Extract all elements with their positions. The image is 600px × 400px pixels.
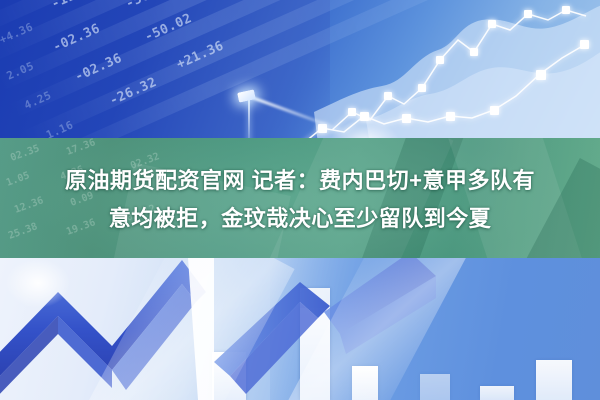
ticker-number: 4.25 (22, 89, 53, 112)
bar-chart-column (480, 386, 514, 400)
ticker-number: -50.02 (123, 0, 175, 12)
headline-line-2: 意均被拒，金玟哉决心至少留队到今夏 (0, 200, 600, 238)
headline-line-1: 原油期货配资官网 记者：费内巴切+意甲多队有 (0, 162, 600, 200)
news-banner: -09.02 -02.35 +4.36 -11.25 +45.02 2.05 -… (0, 0, 600, 400)
ticker-number: -50.02 (143, 11, 195, 45)
ticker-number: +21.36 (174, 38, 226, 72)
ticker-number: -02.36 (51, 21, 103, 55)
ticker-number: -02.36 (73, 51, 125, 85)
bar-chart-column (536, 360, 572, 400)
headline-block: 原油期货配资官网 记者：费内巴切+意甲多队有 意均被拒，金玟哉决心至少留队到今夏 (0, 162, 600, 238)
ticker-number: -11.25 (49, 0, 101, 12)
top-background-band: -09.02 -02.35 +4.36 -11.25 +45.02 2.05 -… (0, 0, 600, 152)
glowing-line-chart (270, 0, 600, 150)
ticker-number: 2.05 (5, 59, 36, 82)
bottom-background-band (0, 258, 600, 400)
ticker-number: +4.36 (0, 20, 35, 46)
ticker-number: -26.32 (107, 75, 159, 109)
light-spark (6, 258, 70, 308)
